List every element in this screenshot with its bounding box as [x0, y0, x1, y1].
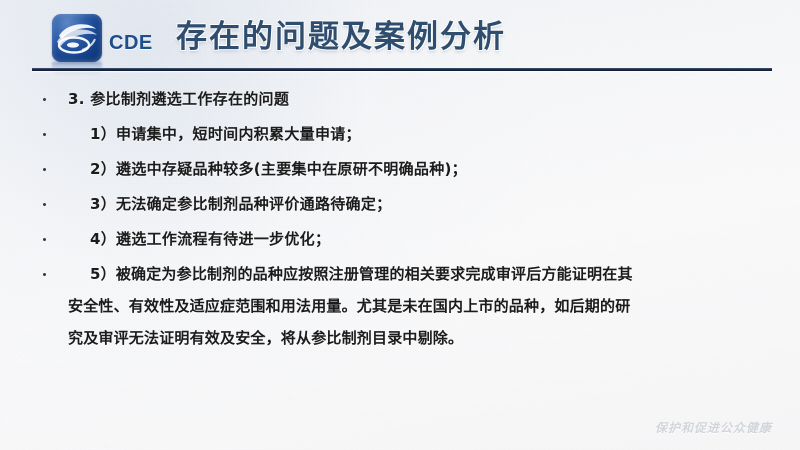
bullet-dot-icon — [43, 203, 46, 206]
bullet-dot-icon — [43, 98, 46, 101]
slide-canvas: CDE 存在的问题及案例分析 3. 参比制剂遴选工作存在的问题 1）申请集中，短… — [0, 0, 800, 450]
bullet-dot-icon — [43, 133, 46, 136]
cde-eye-logo-icon — [52, 14, 102, 62]
list-item: 3）无法确定参比制剂品种评价通路待确定； — [0, 189, 800, 224]
bullet-list: 3. 参比制剂遴选工作存在的问题 1）申请集中，短时间内积累大量申请； 2）遴选… — [0, 84, 800, 404]
paragraph-line: 安全性、有效性及适应症范围和用法用量。尤其是未在国内上市的品种，如后期的研 — [68, 295, 630, 316]
slide-header: CDE 存在的问题及案例分析 — [0, 0, 800, 72]
bullet-dot-icon — [43, 238, 46, 241]
list-item-label: 1）申请集中，短时间内积累大量申请； — [90, 123, 361, 144]
header-divider — [32, 68, 772, 71]
paragraph-line: 5）被确定为参比制剂的品种应按照注册管理的相关要求完成审评后方能证明在其 — [90, 263, 633, 284]
bullet-dot-icon — [43, 273, 46, 276]
list-item-label: 3）无法确定参比制剂品种评价通路待确定； — [90, 193, 391, 214]
bullet-dot-icon — [43, 168, 46, 171]
paragraph-line: 究及审评无法证明有效及安全，将从参比制剂目录中剔除。 — [68, 327, 463, 348]
list-item-label: 2）遴选中存疑品种较多(主要集中在原研不明确品种)； — [90, 158, 467, 179]
list-item-label: 3. 参比制剂遴选工作存在的问题 — [68, 88, 289, 109]
list-item: 4）遴选工作流程有待进一步优化； — [0, 224, 800, 259]
logo-wordmark: CDE — [109, 32, 153, 55]
cde-logo: CDE — [52, 12, 156, 64]
page-title: 存在的问题及案例分析 — [176, 11, 506, 56]
list-item: 2）遴选中存疑品种较多(主要集中在原研不明确品种)； — [0, 154, 800, 189]
footer-slogan: 保护和促进公众健康 — [655, 419, 772, 436]
list-item: 3. 参比制剂遴选工作存在的问题 — [0, 84, 800, 119]
list-item: 1）申请集中，短时间内积累大量申请； — [0, 119, 800, 154]
list-item-label: 4）遴选工作流程有待进一步优化； — [90, 228, 330, 249]
